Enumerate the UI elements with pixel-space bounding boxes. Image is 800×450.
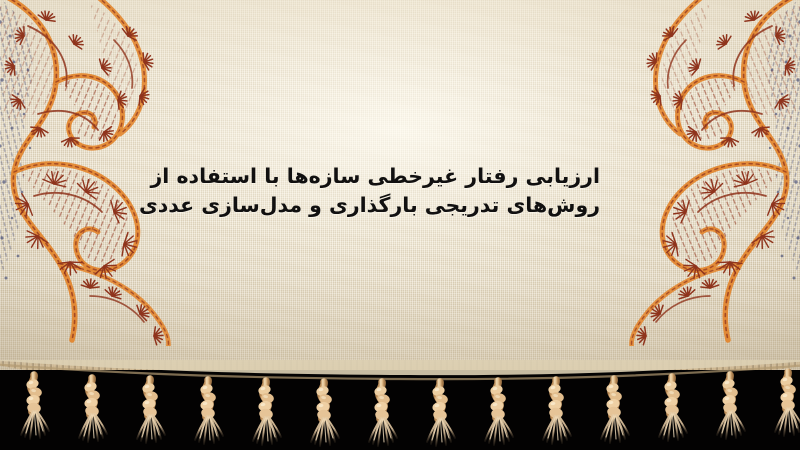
title-line-1: ارزیابی رفتار غیرخطی سازه‌ها با استفاده … — [200, 162, 600, 191]
black-backdrop-band — [0, 370, 800, 450]
title-line-2: روش‌های تدریجی بارگذاری و مدل‌سازی عددی — [200, 191, 600, 220]
title-card-canvas: ارزیابی رفتار غیرخطی سازه‌ها با استفاده … — [0, 0, 800, 450]
title-text-block: ارزیابی رفتار غیرخطی سازه‌ها با استفاده … — [200, 162, 600, 220]
